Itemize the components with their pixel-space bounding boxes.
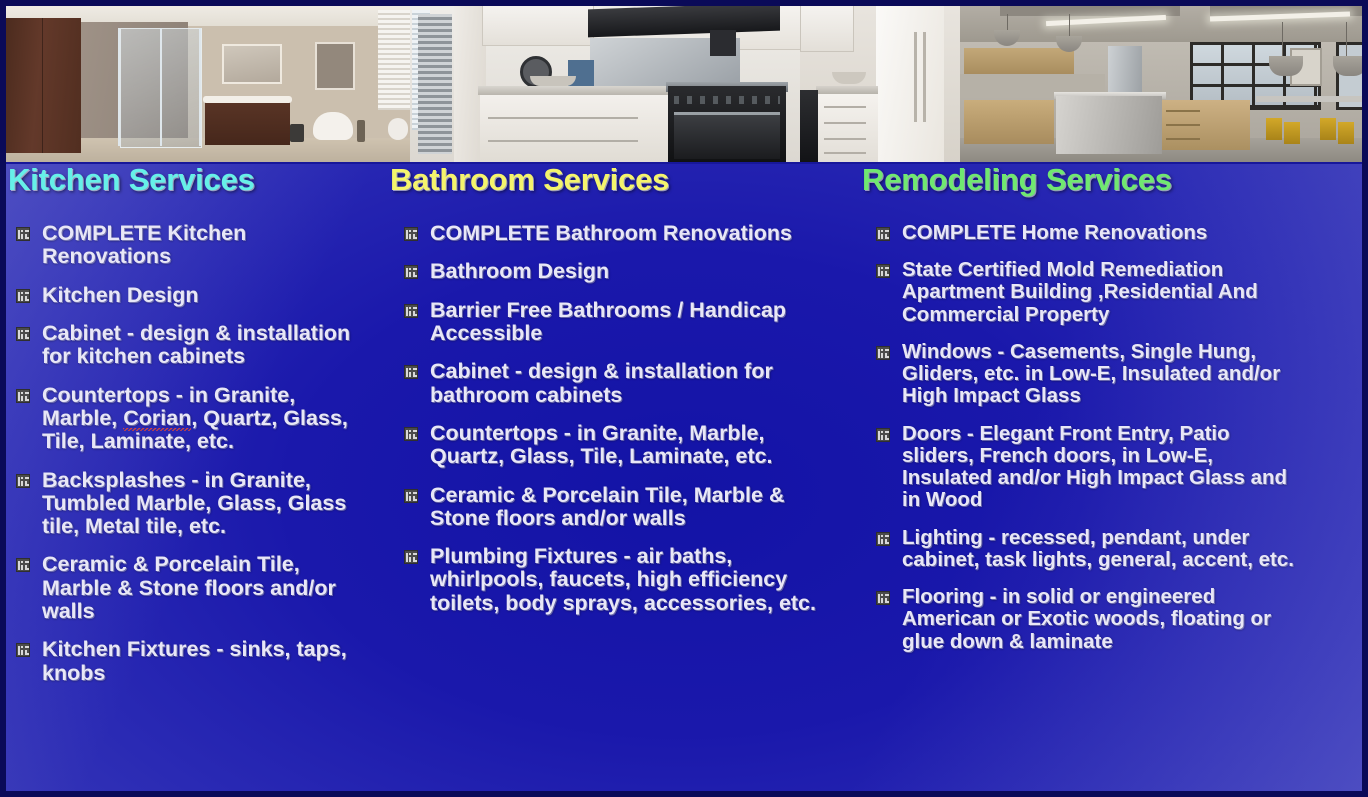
list-bullet-icon	[404, 365, 418, 379]
service-list-item: Windows - Casements, Single Hung, Glider…	[874, 341, 1304, 408]
column-bathroom-services: COMPLETE Bathroom RenovationsBathroom De…	[402, 222, 822, 630]
service-item-text: Cabinet - design & installation for kitc…	[42, 321, 350, 368]
service-item-lead: COMPLETE	[430, 221, 549, 245]
service-item-lead: COMPLETE	[902, 221, 1016, 244]
service-item-lead: Lighting	[902, 526, 983, 549]
service-item-lead: Kitchen Design	[42, 283, 199, 307]
list-bullet-icon	[876, 532, 890, 546]
list-bullet-icon	[16, 558, 30, 572]
service-item-lead: Ceramic & Porcelain	[42, 552, 251, 576]
service-item-lead: COMPLETE	[42, 221, 161, 245]
kitchen-services-list: COMPLETE Kitchen RenovationsKitchen Desi…	[14, 222, 374, 685]
service-list-item: State Certified Mold Remediation Apartme…	[874, 259, 1304, 326]
list-bullet-icon	[16, 389, 30, 403]
service-list-item: Countertops - in Granite, Marble, Quartz…	[402, 422, 822, 469]
heading-kitchen-services: Kitchen Services	[8, 162, 255, 198]
service-item-lead: State Certified Mold	[902, 258, 1095, 281]
service-item-text: COMPLETE Home Renovations	[902, 221, 1207, 244]
service-list-item: COMPLETE Bathroom Renovations	[402, 222, 822, 245]
service-list-item: Kitchen Fixtures - sinks, taps, knobs	[14, 638, 374, 685]
service-item-text: Plumbing Fixtures - air baths, whirlpool…	[430, 544, 816, 615]
service-item-text: Ceramic & Porcelain Tile, Marble & Stone…	[42, 552, 336, 623]
service-item-lead: Cabinet	[430, 359, 509, 383]
list-bullet-icon	[404, 489, 418, 503]
service-item-lead: Bathroom Design	[430, 259, 609, 283]
service-item-text: Flooring - in solid or engineered Americ…	[902, 585, 1271, 652]
service-list-item: COMPLETE Home Renovations	[874, 222, 1304, 244]
list-bullet-icon	[876, 428, 890, 442]
service-item-lead: Backsplashes	[42, 468, 185, 492]
photo-kitchen-range-hood	[410, 0, 800, 162]
list-bullet-icon	[876, 346, 890, 360]
service-list-item: Plumbing Fixtures - air baths, whirlpool…	[402, 545, 822, 615]
photo-white-kitchen-cabinets	[800, 0, 960, 162]
service-item-text: Kitchen Fixtures - sinks, taps, knobs	[42, 637, 347, 684]
services-slide: Kitchen Services Bathroom Services Remod…	[0, 0, 1368, 797]
heading-remodeling-services: Remodeling Services	[862, 162, 1172, 198]
photo-industrial-loft-kitchen	[960, 0, 1368, 162]
service-item-text: Doors - Elegant Front Entry, Patio slide…	[902, 422, 1287, 512]
service-item-lead: Barrier Free Bathrooms /	[430, 298, 683, 322]
list-bullet-icon	[876, 591, 890, 605]
service-item-text: Barrier Free Bathrooms / Handicap Access…	[430, 298, 786, 345]
list-bullet-icon	[876, 264, 890, 278]
service-list-item: Flooring - in solid or engineered Americ…	[874, 586, 1304, 653]
list-bullet-icon	[876, 227, 890, 241]
service-list-item: Cabinet - design & installation for kitc…	[14, 322, 374, 369]
service-list-item: Cabinet - design & installation for bath…	[402, 360, 822, 407]
service-list-item: Doors - Elegant Front Entry, Patio slide…	[874, 423, 1304, 512]
service-item-text: Bathroom Design	[430, 259, 609, 283]
list-bullet-icon	[404, 304, 418, 318]
service-list-item: Backsplashes - in Granite, Tumbled Marbl…	[14, 469, 374, 539]
service-item-text: Countertops - in Granite, Marble, Corian…	[42, 383, 348, 454]
service-item-text: Ceramic & Porcelain Tile, Marble & Stone…	[430, 483, 785, 530]
service-item-text: Backsplashes - in Granite, Tumbled Marbl…	[42, 468, 346, 539]
service-item-text: Windows - Casements, Single Hung, Glider…	[902, 340, 1280, 407]
service-item-text: Kitchen Design	[42, 283, 199, 307]
list-bullet-icon	[16, 227, 30, 241]
service-item-lead: Flooring	[902, 585, 984, 608]
service-item-lead: Countertops	[430, 421, 558, 445]
service-list-item: Lighting - recessed, pendant, under cabi…	[874, 527, 1304, 571]
service-item-lead: Kitchen Fixtures	[42, 637, 210, 661]
service-list-item: Ceramic & Porcelain Tile, Marble & Stone…	[14, 553, 374, 623]
bathroom-services-list: COMPLETE Bathroom RenovationsBathroom De…	[402, 222, 822, 615]
column-kitchen-services: COMPLETE Kitchen RenovationsKitchen Desi…	[14, 222, 374, 700]
service-item-text: COMPLETE Kitchen Renovations	[42, 221, 246, 268]
service-item-lead: Doors	[902, 422, 961, 445]
service-item-lead: Windows	[902, 340, 992, 363]
list-bullet-icon	[16, 289, 30, 303]
service-list-item: Barrier Free Bathrooms / Handicap Access…	[402, 299, 822, 346]
service-item-lead: Countertops	[42, 383, 170, 407]
remodeling-services-list: COMPLETE Home RenovationsState Certified…	[874, 222, 1304, 653]
column-remodeling-services: COMPLETE Home RenovationsState Certified…	[874, 222, 1304, 668]
heading-bathroom-services: Bathroom Services	[390, 162, 669, 198]
service-item-text: COMPLETE Bathroom Renovations	[430, 221, 792, 245]
service-item-text: Cabinet - design & installation for bath…	[430, 359, 773, 406]
service-list-item: COMPLETE Kitchen Renovations	[14, 222, 374, 269]
column-headings: Kitchen Services Bathroom Services Remod…	[0, 162, 1368, 208]
service-item-text: Lighting - recessed, pendant, under cabi…	[902, 526, 1294, 571]
service-item-lead: Cabinet	[42, 321, 121, 345]
service-list-item: Countertops - in Granite, Marble, Corian…	[14, 384, 374, 454]
photo-modern-bathroom	[0, 0, 410, 162]
list-bullet-icon	[16, 643, 30, 657]
service-item-lead: Plumbing Fixtures	[430, 544, 618, 568]
list-bullet-icon	[404, 265, 418, 279]
list-bullet-icon	[16, 327, 30, 341]
service-item-lead: Ceramic & Porcelain Tile,	[430, 483, 688, 507]
list-bullet-icon	[404, 427, 418, 441]
service-item-text: Countertops - in Granite, Marble, Quartz…	[430, 421, 773, 468]
service-list-item: Kitchen Design	[14, 284, 374, 307]
list-bullet-icon	[404, 550, 418, 564]
service-list-item: Ceramic & Porcelain Tile, Marble & Stone…	[402, 484, 822, 531]
list-bullet-icon	[404, 227, 418, 241]
misspelled-word: Corian	[123, 406, 191, 431]
list-bullet-icon	[16, 474, 30, 488]
service-item-text: State Certified Mold Remediation Apartme…	[902, 258, 1258, 325]
header-photo-strip	[0, 0, 1368, 164]
service-list-item: Bathroom Design	[402, 260, 822, 283]
